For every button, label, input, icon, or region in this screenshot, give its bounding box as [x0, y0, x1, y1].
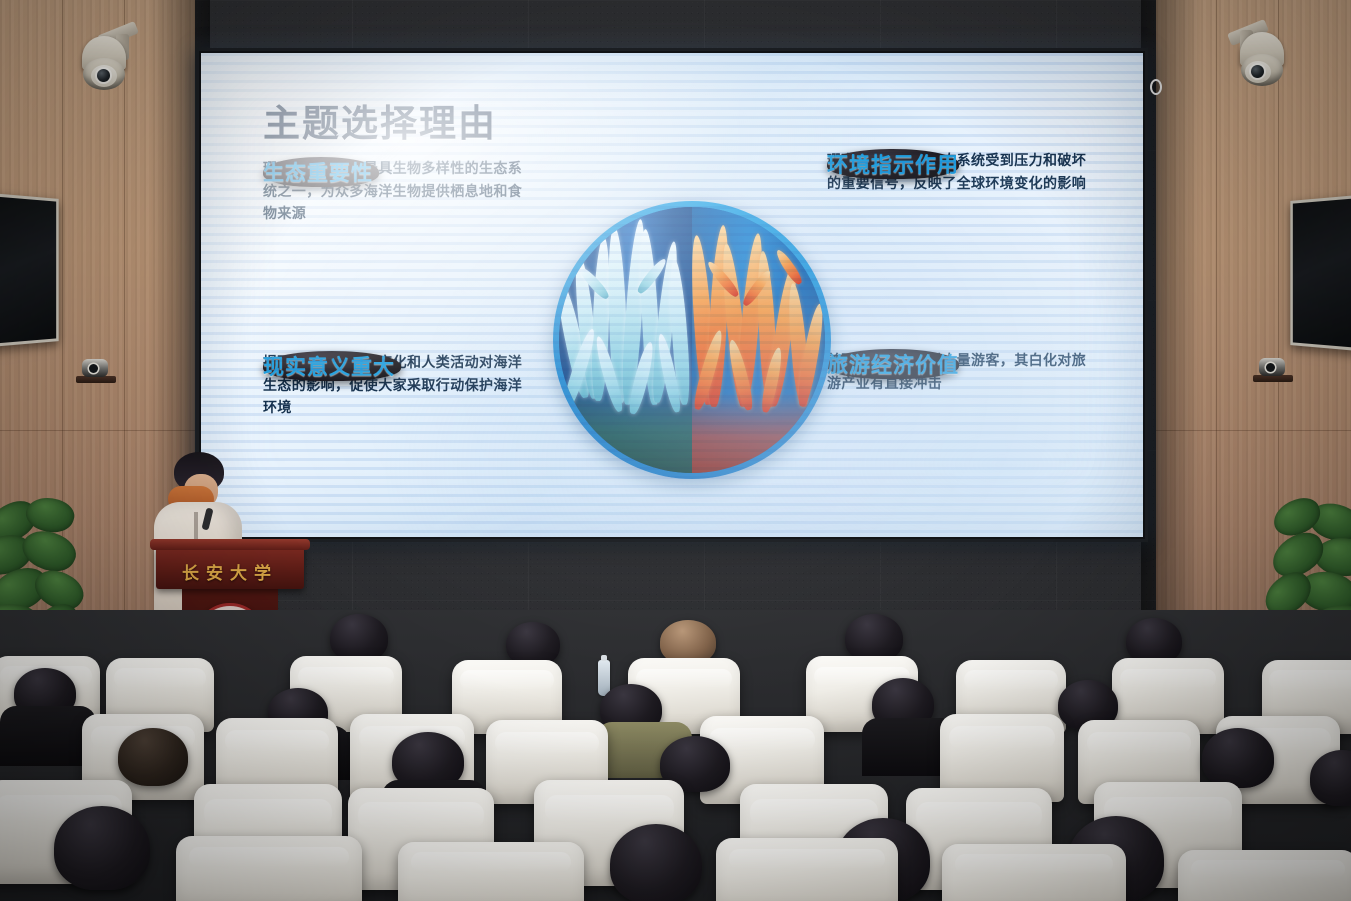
slide-block-environmental-indicator: 环境指示作用 珊瑚白化是海洋生态系统受到压力和破坏的重要信号，反映了全球环境变化… — [827, 149, 1095, 194]
seat — [398, 842, 584, 901]
podium-lip — [150, 539, 310, 550]
coral-half-healthy — [692, 207, 825, 473]
slide-block-practical-significance: 现实意义重大 提醒人们关注气候变化和人类活动对海洋生态的影响，促使大家采取行动保… — [263, 351, 531, 419]
slide-surface: 主题选择理由 生态重要性 珊瑚礁是地球上最具生物多样性的生态系统之一，为众多海洋… — [201, 53, 1143, 537]
seat — [176, 836, 362, 901]
slide: 主题选择理由 生态重要性 珊瑚礁是地球上最具生物多样性的生态系统之一，为众多海洋… — [201, 53, 1143, 537]
podium-top: 长安大学 — [156, 545, 304, 589]
audience-head — [610, 824, 702, 901]
coral-circle-inner — [559, 207, 825, 473]
seat — [716, 838, 898, 901]
slide-block-ecological-importance: 生态重要性 珊瑚礁是地球上最具生物多样性的生态系统之一，为众多海洋生物提供栖息地… — [263, 157, 531, 225]
slide-block-tourism-economic-value: 旅游经济价值 美丽的珊瑚礁吸引大量游客，其白化对旅游产业有直接冲击 — [827, 349, 1095, 394]
slide-title: 主题选择理由 — [263, 93, 497, 147]
audience-head — [1202, 728, 1274, 788]
ptz-dome-camera-right — [1224, 16, 1296, 102]
seat — [1178, 850, 1351, 901]
lecture-hall-photo: 主题选择理由 生态重要性 珊瑚礁是地球上最具生物多样性的生态系统之一，为众多海洋… — [0, 0, 1351, 901]
wall-camera-left — [76, 353, 116, 383]
audience-head — [845, 614, 903, 662]
block-heading: 生态重要性 — [263, 157, 379, 187]
wall-camera-right — [1253, 352, 1293, 382]
wall-shadow-right — [1141, 0, 1201, 700]
screen-indicator-light — [1150, 79, 1162, 95]
block-heading: 现实意义重大 — [263, 351, 401, 381]
audience-head — [54, 806, 150, 890]
led-presentation-screen: 主题选择理由 生态重要性 珊瑚礁是地球上最具生物多样性的生态系统之一，为众多海洋… — [196, 48, 1148, 542]
ptz-dome-camera-left — [72, 18, 144, 104]
seat — [942, 844, 1126, 901]
audience-seating-area — [0, 610, 1351, 901]
coral-comparison-circle-image — [553, 201, 831, 479]
audience-head — [118, 728, 188, 786]
block-heading: 旅游经济价值 — [827, 349, 959, 379]
wall-monitor-left — [0, 193, 59, 347]
coral-half-bleached — [559, 207, 692, 473]
podium-university-name: 长安大学 — [156, 559, 304, 584]
audience-head — [330, 614, 388, 662]
block-heading: 环境指示作用 — [827, 149, 959, 179]
wall-monitor-right — [1290, 195, 1351, 351]
